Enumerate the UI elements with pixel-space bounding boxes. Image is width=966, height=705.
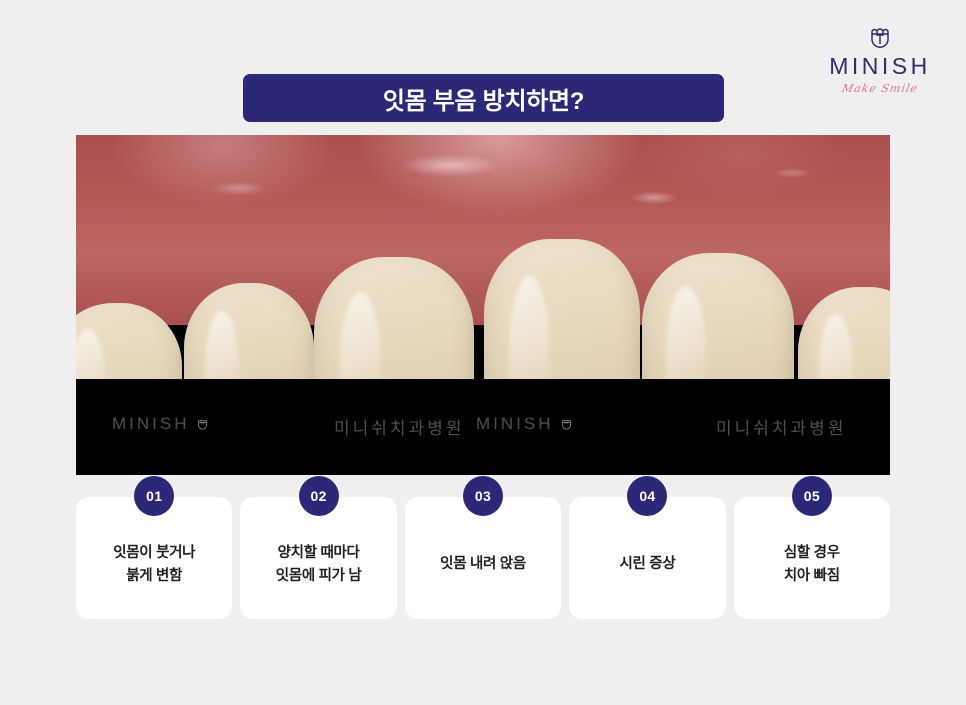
tulip-icon <box>560 417 573 431</box>
tulip-tooth-icon <box>820 22 940 52</box>
symptom-card[interactable]: 02 양치할 때마다 잇몸에 피가 남 <box>240 497 396 619</box>
clinical-photo: MINISH 미니쉬치과병원 MINISH 미니쉬치과병원 <box>76 135 890 475</box>
photo-watermark: 미니쉬치과병원 <box>334 414 464 439</box>
symptom-card[interactable]: 01 잇몸이 붓거나 붉게 변함 <box>76 497 232 619</box>
symptom-card-label: 잇몸이 붓거나 붉게 변함 <box>113 542 195 589</box>
tulip-icon <box>196 417 209 431</box>
brand-tagline: Make Smile <box>819 82 942 95</box>
symptom-card-label: 잇몸 내려 앉음 <box>440 553 526 576</box>
status-badge: 01 <box>134 476 174 516</box>
status-badge: 02 <box>299 476 339 516</box>
brand-logo: MINISH Make Smile <box>820 22 940 95</box>
page-title: 잇몸 부음 방치하면? <box>383 81 584 116</box>
photo-watermark: MINISH <box>112 414 209 434</box>
brand-wordmark: MINISH <box>820 54 940 79</box>
symptom-card-label: 시린 증상 <box>619 553 675 576</box>
photo-watermark: MINISH <box>476 414 573 434</box>
symptom-card[interactable]: 03 잇몸 내려 앉음 <box>405 497 561 619</box>
photo-watermark: 미니쉬치과병원 <box>716 414 846 439</box>
symptom-card-label: 심할 경우 치아 빠짐 <box>784 542 840 589</box>
symptom-card-label: 양치할 때마다 잇몸에 피가 남 <box>276 542 362 589</box>
watermark-text: 미니쉬치과병원 <box>716 414 846 439</box>
symptom-card-list: 01 잇몸이 붓거나 붉게 변함 02 양치할 때마다 잇몸에 피가 남 03 … <box>76 497 890 619</box>
status-badge: 03 <box>463 476 503 516</box>
watermark-text: MINISH <box>112 414 190 434</box>
watermark-text: 미니쉬치과병원 <box>334 414 464 439</box>
symptom-card[interactable]: 05 심할 경우 치아 빠짐 <box>734 497 890 619</box>
status-badge: 05 <box>792 476 832 516</box>
symptom-card[interactable]: 04 시린 증상 <box>569 497 725 619</box>
watermark-text: MINISH <box>476 414 554 434</box>
status-badge: 04 <box>627 476 667 516</box>
title-banner: 잇몸 부음 방치하면? <box>243 74 724 122</box>
